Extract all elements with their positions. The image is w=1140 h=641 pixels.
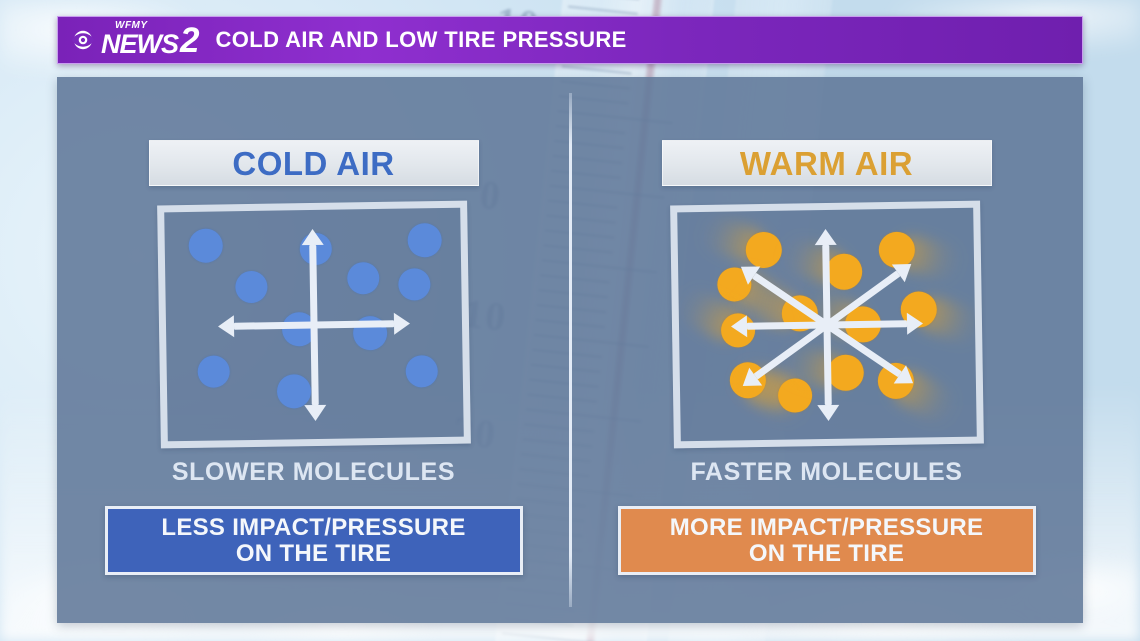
arrow-head	[301, 228, 323, 244]
cold-air-molecule-field	[164, 208, 464, 442]
warm-air-callout: MORE IMPACT/PRESSURE ON THE TIRE	[618, 506, 1036, 575]
graphic-panel: COLD AIR SLOWER MOLECULES LESS IMPACT/PR…	[57, 77, 1083, 623]
cold-air-callout-line1: LESS IMPACT/PRESSURE	[161, 515, 465, 541]
station-channel-number: 2	[180, 23, 199, 58]
cold-air-box-frame	[157, 201, 471, 449]
warm-air-title-text: WARM AIR	[740, 147, 913, 180]
cbs-eye-icon	[70, 30, 96, 50]
cold-air-sub-label: SLOWER MOLECULES	[57, 458, 570, 487]
molecule	[197, 356, 229, 388]
motion-arrow-up	[301, 228, 325, 324]
arrow-head	[814, 228, 836, 244]
molecule	[397, 268, 429, 300]
molecule	[405, 355, 437, 387]
warm-air-molecule-box	[672, 203, 982, 446]
molecule	[188, 229, 223, 264]
warm-air-molecule-field	[677, 208, 977, 442]
arrow-head	[906, 312, 922, 334]
arrow-head	[304, 404, 326, 420]
arrow-shaft	[313, 320, 393, 328]
station-callsign: WFMY	[115, 21, 148, 31]
cold-air-title-text: COLD AIR	[232, 147, 394, 180]
molecule	[347, 262, 379, 294]
station-logo: WFMY NEWS 2	[58, 17, 209, 63]
cold-air-callout-line2: ON THE TIRE	[236, 541, 391, 567]
warm-air-sub-label: FASTER MOLECULES	[570, 458, 1083, 487]
column-warm-air: WARM AIR FASTER MOLECULES MORE IMPACT/PR…	[570, 77, 1083, 623]
motion-arrow-right	[313, 312, 409, 336]
arrow-head	[817, 404, 839, 420]
motion-arrow-left	[217, 314, 313, 338]
warm-air-box-frame	[670, 201, 984, 449]
warm-air-callout-line1: MORE IMPACT/PRESSURE	[670, 515, 984, 541]
arrow-head	[217, 315, 233, 337]
column-cold-air: COLD AIR SLOWER MOLECULES LESS IMPACT/PR…	[57, 77, 570, 623]
motion-arrow-down	[303, 324, 327, 420]
molecule	[407, 223, 442, 258]
cold-air-title-plate: COLD AIR	[149, 140, 479, 186]
arrow-head	[730, 315, 746, 337]
arrow-shaft	[233, 321, 313, 329]
cold-air-callout: LESS IMPACT/PRESSURE ON THE TIRE	[105, 506, 523, 575]
lower-third-header: WFMY NEWS 2 COLD AIR AND LOW TIRE PRESSU…	[57, 16, 1083, 64]
arrow-head	[393, 312, 409, 334]
arrow-shaft	[310, 324, 318, 404]
warm-air-callout-line2: ON THE TIRE	[749, 541, 904, 567]
molecule	[234, 270, 266, 302]
warm-air-title-plate: WARM AIR	[662, 140, 992, 186]
page-title: COLD AIR AND LOW TIRE PRESSURE	[209, 27, 626, 53]
cold-air-molecule-box	[159, 203, 469, 446]
station-wordmark: WFMY NEWS 2	[101, 23, 199, 58]
